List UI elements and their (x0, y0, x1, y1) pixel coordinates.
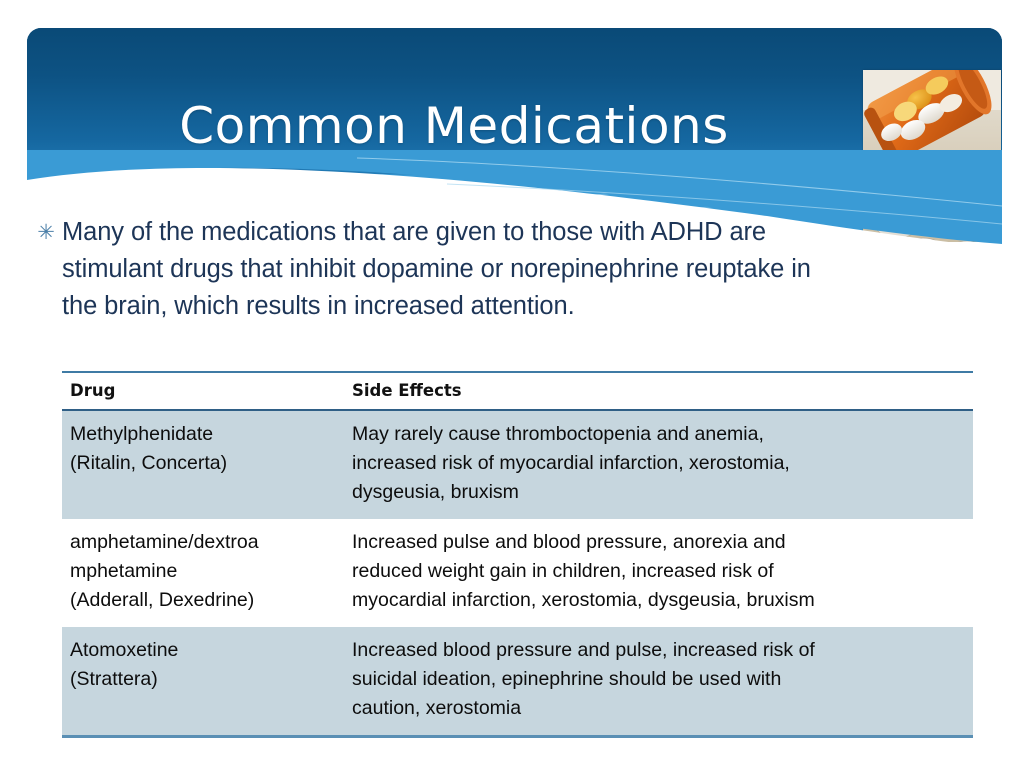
table-head: Drug Side Effects (62, 372, 973, 410)
bullet-text: Many of the medications that are given t… (62, 214, 820, 325)
cell-drug: amphetamine/dextroa mphetamine (Adderall… (62, 519, 340, 627)
column-header-side-effects: Side Effects (340, 372, 973, 410)
table-row: Methylphenidate (Ritalin, Concerta) May … (62, 410, 973, 519)
cell-drug: Atomoxetine (Strattera) (62, 627, 340, 737)
pill-bottle-photo: C104 1 C104 C1 14 C3 C104 C3 (863, 70, 1001, 242)
drug-line: (Adderall, Dexedrine) (70, 586, 330, 615)
title-banner: Common Medications (27, 28, 1002, 242)
cell-drug: Methylphenidate (Ritalin, Concerta) (62, 410, 340, 519)
table-row: amphetamine/dextroa mphetamine (Adderall… (62, 519, 973, 627)
svg-text:C104: C104 (891, 170, 904, 176)
drug-line: Atomoxetine (70, 636, 330, 665)
drug-line: amphetamine/dextroa (70, 528, 330, 557)
effect-line: dysgeusia, bruxism (352, 478, 959, 507)
table-row: Atomoxetine (Strattera) Increased blood … (62, 627, 973, 737)
medications-table: Drug Side Effects Methylphenidate (Rital… (62, 371, 973, 738)
effect-line: myocardial infarction, xerostomia, dysge… (352, 586, 959, 615)
effect-line: suicidal ideation, epinephrine should be… (352, 665, 959, 694)
slide-canvas: Common Medications (0, 0, 1024, 768)
page-title: Common Medications (54, 100, 854, 153)
drug-line: (Ritalin, Concerta) (70, 449, 330, 478)
svg-text:C104: C104 (967, 162, 980, 168)
effect-line: caution, xerostomia (352, 694, 959, 723)
svg-text:C3: C3 (889, 220, 896, 226)
effect-line: May rarely cause thromboctopenia and ane… (352, 420, 959, 449)
table-body: Methylphenidate (Ritalin, Concerta) May … (62, 410, 973, 737)
cell-side-effects: Increased blood pressure and pulse, incr… (340, 627, 973, 737)
drug-line: (Strattera) (70, 665, 330, 694)
column-header-drug: Drug (62, 372, 340, 410)
effect-line: increased risk of myocardial infarction,… (352, 449, 959, 478)
svg-text:1: 1 (931, 166, 934, 172)
effect-line: reduced weight gain in children, increas… (352, 557, 959, 586)
drug-line: Methylphenidate (70, 420, 330, 449)
cell-side-effects: May rarely cause thromboctopenia and ane… (340, 410, 973, 519)
asterisk-bullet-icon: ✳ (30, 214, 62, 251)
effect-line: Increased pulse and blood pressure, anor… (352, 528, 959, 557)
effect-line: Increased blood pressure and pulse, incr… (352, 636, 959, 665)
medications-table-wrapper: Drug Side Effects Methylphenidate (Rital… (62, 371, 973, 738)
svg-text:14: 14 (953, 188, 959, 194)
svg-text:C104: C104 (933, 218, 946, 224)
svg-text:C1: C1 (913, 192, 920, 198)
bullet-row: ✳ Many of the medications that are given… (30, 214, 820, 325)
drug-line: mphetamine (70, 557, 330, 586)
table-header-row: Drug Side Effects (62, 372, 973, 410)
body-bullet-block: ✳ Many of the medications that are given… (30, 214, 820, 325)
cell-side-effects: Increased pulse and blood pressure, anor… (340, 519, 973, 627)
